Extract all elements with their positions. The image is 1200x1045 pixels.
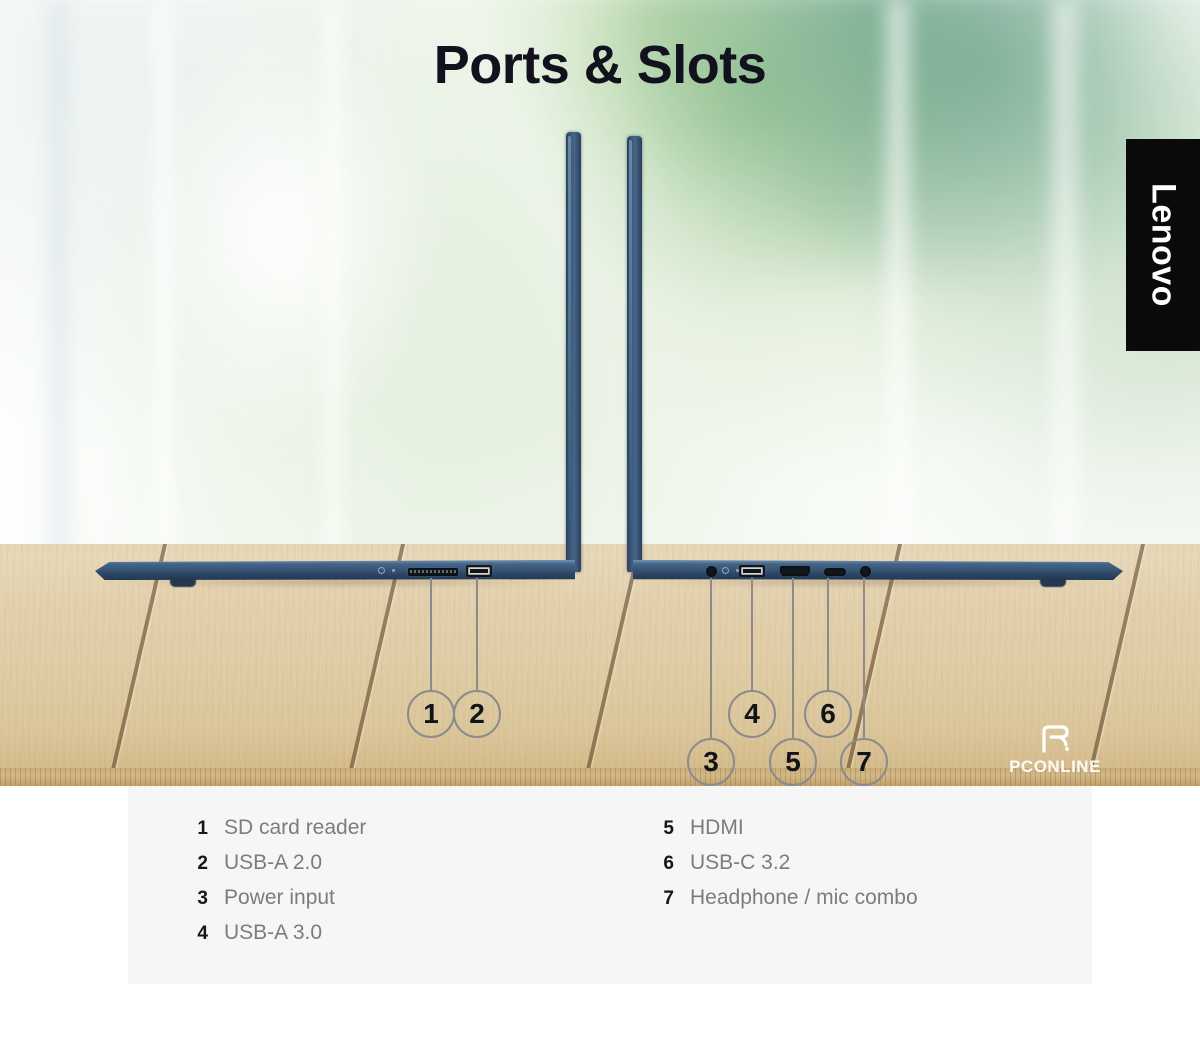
legend-column-left: 1SD card reader2USB-A 2.03Power input4US…	[174, 816, 366, 956]
callout-leader-line	[710, 578, 712, 738]
callout-leader-line	[430, 578, 432, 690]
callout-leader-line	[827, 578, 829, 690]
legend-column-right: 5HDMI6USB-C 3.27Headphone / mic combo	[640, 816, 918, 921]
pconline-watermark: PCONLINE	[1000, 725, 1110, 777]
legend-number: 2	[174, 853, 208, 875]
legend-number: 7	[640, 888, 674, 910]
lenovo-logo-badge: Lenovo	[1126, 139, 1200, 351]
legend-number: 5	[640, 818, 674, 840]
legend-row: 4USB-A 3.0	[174, 921, 366, 956]
callout-leader-line	[792, 578, 794, 738]
usb-tongue	[743, 569, 761, 573]
ports-and-slots-infographic: 1234567 PCONLINE Ports & Slots Lenovo 1S…	[0, 0, 1200, 1045]
callout-marker-7[interactable]: 7	[840, 738, 888, 786]
callout-marker-1[interactable]: 1	[407, 690, 455, 738]
lid-highlight	[629, 140, 632, 541]
power-jack-port	[706, 566, 717, 577]
usb-tongue	[470, 569, 488, 573]
lid-highlight	[568, 136, 571, 541]
status-dot-icon	[392, 569, 395, 572]
legend-row: 3Power input	[174, 886, 366, 921]
sd-card-slot	[408, 568, 458, 576]
callout-marker-6[interactable]: 6	[804, 690, 852, 738]
laptop-lid-right	[627, 136, 642, 572]
product-photo: 1234567 PCONLINE	[0, 0, 1200, 786]
legend-row: 6USB-C 3.2	[640, 851, 918, 886]
legend-row: 1SD card reader	[174, 816, 366, 851]
lenovo-wordmark: Lenovo	[1144, 183, 1183, 307]
legend-label: USB-A 2.0	[224, 851, 322, 875]
callout-marker-5[interactable]: 5	[769, 738, 817, 786]
legend-number: 3	[174, 888, 208, 910]
hdmi-port	[780, 566, 810, 576]
usb-c-port	[824, 568, 846, 576]
callout-leader-line	[476, 578, 478, 690]
callout-marker-2[interactable]: 2	[453, 690, 501, 738]
callout-marker-4[interactable]: 4	[728, 690, 776, 738]
callout-leader-line	[863, 578, 865, 738]
legend-label: SD card reader	[224, 816, 366, 840]
laptop-foot	[170, 578, 196, 587]
page-title: Ports & Slots	[0, 34, 1200, 96]
callout-leader-line	[751, 578, 753, 690]
usb-a-port-right	[739, 565, 765, 577]
legend-label: USB-A 3.0	[224, 921, 322, 945]
callout-marker-3[interactable]: 3	[687, 738, 735, 786]
headphone-jack-port	[860, 566, 871, 577]
legend-label: Headphone / mic combo	[690, 886, 918, 910]
power-icon	[722, 567, 729, 574]
legend-number: 1	[174, 818, 208, 840]
usb-a-port-left	[466, 565, 492, 577]
laptop-lid-left	[566, 132, 581, 572]
legend-panel: 1SD card reader2USB-A 2.03Power input4US…	[128, 786, 1092, 984]
legend-label: USB-C 3.2	[690, 851, 790, 875]
legend-number: 4	[174, 923, 208, 945]
laptop-base-left	[95, 560, 575, 580]
laptop-foot	[1040, 578, 1066, 587]
pconline-logo-icon	[1000, 725, 1110, 757]
pconline-wordmark: PCONLINE	[1000, 758, 1110, 777]
legend-label: Power input	[224, 886, 335, 910]
legend-label: HDMI	[690, 816, 744, 840]
indicator-led-icon	[378, 567, 385, 574]
legend-row: 2USB-A 2.0	[174, 851, 366, 886]
legend-row: 7Headphone / mic combo	[640, 886, 918, 921]
legend-number: 6	[640, 853, 674, 875]
legend-row: 5HDMI	[640, 816, 918, 851]
